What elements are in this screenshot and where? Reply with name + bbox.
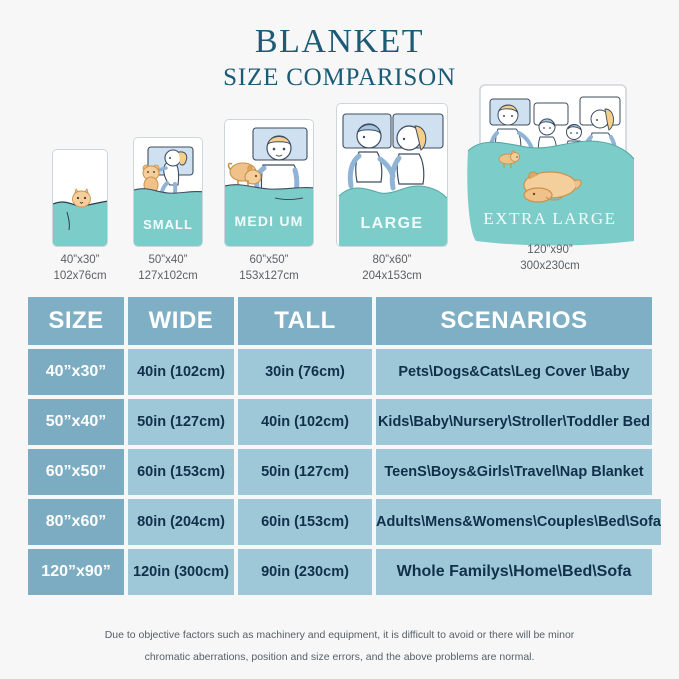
person-right-figure	[392, 126, 426, 188]
cat-under-blanket-illustration	[53, 150, 108, 247]
cell-size: 60”x50”	[28, 449, 124, 495]
cell-wide: 120in (300cm)	[128, 549, 234, 595]
illustration-120x90: EXTRA LARGE 120”x90” 300x230cm	[458, 81, 642, 247]
cell-wide: 50in (127cm)	[128, 399, 234, 445]
size-label-40x30: 40”x30” 102x76cm	[38, 253, 122, 284]
cell-tall: 30in (76cm)	[238, 349, 372, 395]
cell-size: 40”x30”	[28, 349, 124, 395]
size-label-50x40: 50”x40” 127x102cm	[124, 253, 212, 284]
disclaimer-line-2: chromatic aberrations, position and size…	[0, 647, 679, 669]
size-label-60x50: 60”x50” 153x127cm	[218, 253, 320, 284]
illustration-80x60: LARGE 80”x60” 204x153cm	[330, 103, 454, 247]
size-comparison-table: SIZE WIDE TALL SCENARIOS 40”x30” 40in (1…	[28, 297, 652, 595]
column-header-size: SIZE	[28, 297, 124, 345]
bed-card-40x30	[52, 149, 108, 247]
disclaimer: Due to objective factors such as machine…	[0, 625, 679, 668]
cell-tall: 90in (230cm)	[238, 549, 372, 595]
table-row: 50”x40” 50in (127cm) 40in (102cm) Kids\B…	[28, 399, 652, 445]
column-header-wide: WIDE	[128, 297, 234, 345]
title-main: BLANKET	[0, 24, 679, 60]
illustration-strip: 40”x30” 102x76cm	[0, 100, 679, 295]
cell-scenarios: Whole Familys\Home\Bed\Sofa	[376, 549, 652, 595]
dog-icon	[228, 163, 261, 186]
overlay-label-extra-large: EXTRA LARGE	[458, 209, 642, 229]
table-row: 80”x60” 80in (204cm) 60in (153cm) Adults…	[28, 499, 652, 545]
column-header-tall: TALL	[238, 297, 372, 345]
overlay-label-medium: MEDI UM	[218, 213, 320, 229]
cell-wide: 60in (153cm)	[128, 449, 234, 495]
cell-wide: 40in (102cm)	[128, 349, 234, 395]
table-header-row: SIZE WIDE TALL SCENARIOS	[28, 297, 652, 345]
cell-wide: 80in (204cm)	[128, 499, 234, 545]
size-label-120x90: 120”x90” 300x230cm	[458, 243, 642, 274]
table-row: 60”x50” 60in (153cm) 50in (127cm) TeenS\…	[28, 449, 652, 495]
overlay-label-small: SMALL	[124, 217, 212, 232]
illustration-40x30: 40”x30” 102x76cm	[38, 149, 122, 247]
cell-tall: 50in (127cm)	[238, 449, 372, 495]
overlay-label-large: LARGE	[330, 215, 454, 233]
cell-scenarios: Pets\Dogs&Cats\Leg Cover \Baby	[376, 349, 652, 395]
cell-tall: 40in (102cm)	[238, 399, 372, 445]
size-label-80x60: 80”x60” 204x153cm	[330, 253, 454, 284]
cell-scenarios: Kids\Baby\Nursery\Stroller\Toddler Bed	[376, 399, 652, 445]
column-header-scenarios: SCENARIOS	[376, 297, 652, 345]
cell-size: 80”x60”	[28, 499, 124, 545]
illustration-50x40: SMALL 50”x40” 127x102cm	[124, 137, 212, 247]
table-row: 40”x30” 40in (102cm) 30in (76cm) Pets\Do…	[28, 349, 652, 395]
illustration-60x50: MEDI UM 60”x50” 153x127cm	[218, 119, 320, 247]
cat-icon	[73, 189, 91, 207]
disclaimer-line-1: Due to objective factors such as machine…	[0, 625, 679, 647]
cell-size: 50”x40”	[28, 399, 124, 445]
cell-size: 120”x90”	[28, 549, 124, 595]
cell-scenarios: Adults\Mens&Womens\Couples\Bed\Sofa	[376, 499, 661, 545]
table-row: 120”x90” 120in (300cm) 90in (230cm) Whol…	[28, 549, 652, 595]
cell-tall: 60in (153cm)	[238, 499, 372, 545]
cell-scenarios: TeenS\Boys&Girls\Travel\Nap Blanket	[376, 449, 652, 495]
